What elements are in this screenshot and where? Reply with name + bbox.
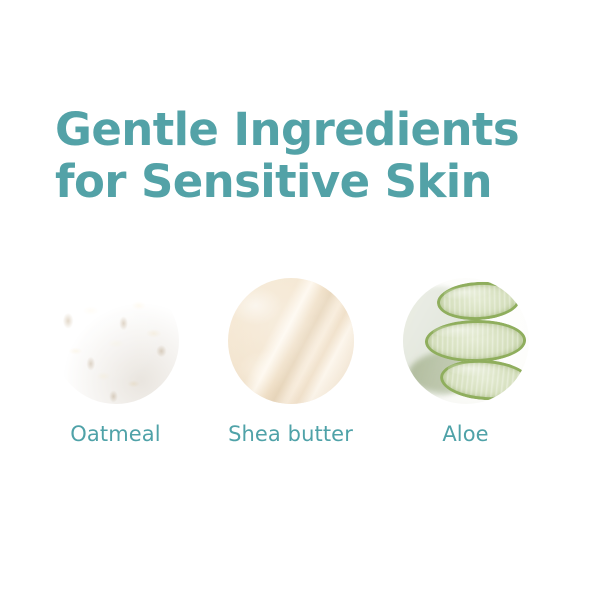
ingredient-item-shea-butter: Shea butter bbox=[203, 278, 378, 446]
ingredient-label-aloe: Aloe bbox=[378, 422, 553, 446]
poster-canvas: Gentle Ingredients for Sensitive Skin Oa… bbox=[0, 0, 600, 595]
ingredient-item-aloe: Aloe bbox=[378, 278, 553, 446]
shea-vignette-layer bbox=[228, 278, 354, 404]
page-title-line-2: for Sensitive Skin bbox=[55, 156, 555, 208]
ingredient-label-oatmeal: Oatmeal bbox=[28, 422, 203, 446]
page-title: Gentle Ingredients for Sensitive Skin bbox=[55, 104, 555, 208]
oatmeal-shading-layer bbox=[53, 278, 179, 404]
ingredient-list: Oatmeal Shea butter bbox=[0, 278, 600, 468]
oatmeal-image bbox=[53, 278, 179, 404]
ingredient-item-oatmeal: Oatmeal bbox=[28, 278, 203, 446]
aloe-image bbox=[403, 278, 529, 404]
shea-butter-image bbox=[228, 278, 354, 404]
ingredient-label-shea-butter: Shea butter bbox=[203, 422, 378, 446]
page-title-line-1: Gentle Ingredients bbox=[55, 104, 555, 156]
